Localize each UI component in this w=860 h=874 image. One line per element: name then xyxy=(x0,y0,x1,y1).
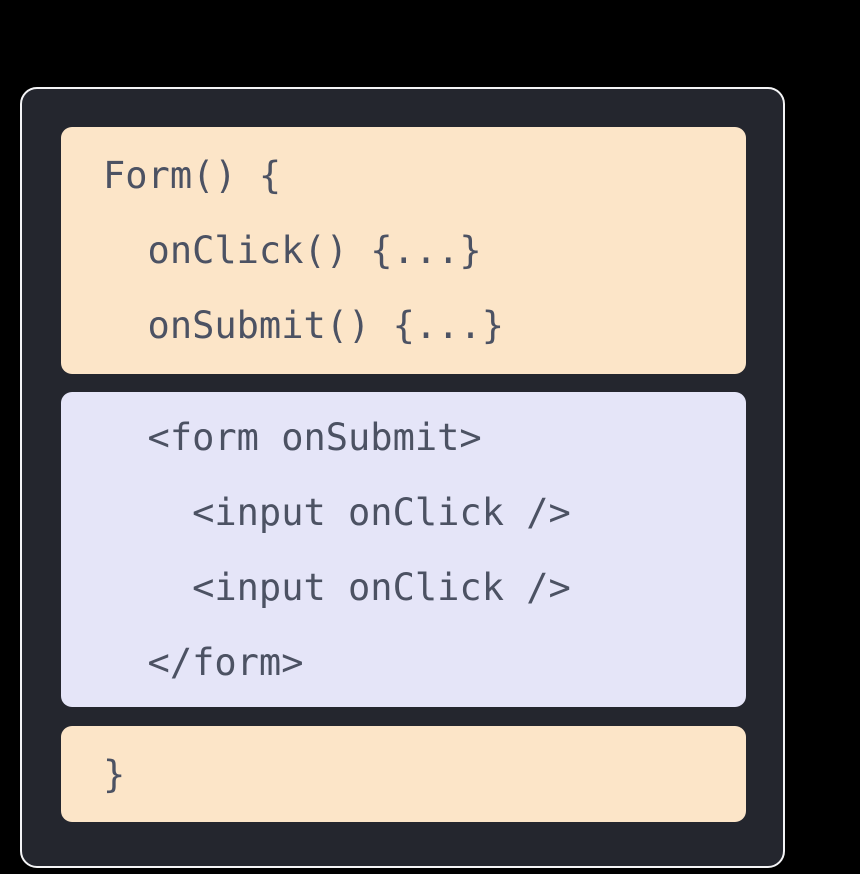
code-line: Form() { xyxy=(61,138,746,213)
code-line: <form onSubmit> xyxy=(61,400,746,475)
code-container: Form() { onClick() {...} onSubmit() {...… xyxy=(20,87,785,868)
code-panel-component-function-tail: } xyxy=(61,726,746,822)
code-line: <input onClick /> xyxy=(61,550,746,625)
code-line: onClick() {...} xyxy=(61,213,746,288)
code-line-group: Form() { onClick() {...} onSubmit() {...… xyxy=(61,127,746,374)
code-line: } xyxy=(61,737,746,812)
code-line: <input onClick /> xyxy=(61,475,746,550)
code-panel-jsx-markup: <form onSubmit> <input onClick /> <input… xyxy=(61,392,746,707)
screenshot-canvas: Form() { onClick() {...} onSubmit() {...… xyxy=(0,0,860,874)
code-panel-component-function-head: Form() { onClick() {...} onSubmit() {...… xyxy=(61,127,746,374)
code-line-group: } xyxy=(61,726,746,822)
code-line: </form> xyxy=(61,625,746,700)
code-line-group: <form onSubmit> <input onClick /> <input… xyxy=(61,392,746,707)
code-line: onSubmit() {...} xyxy=(61,288,746,363)
